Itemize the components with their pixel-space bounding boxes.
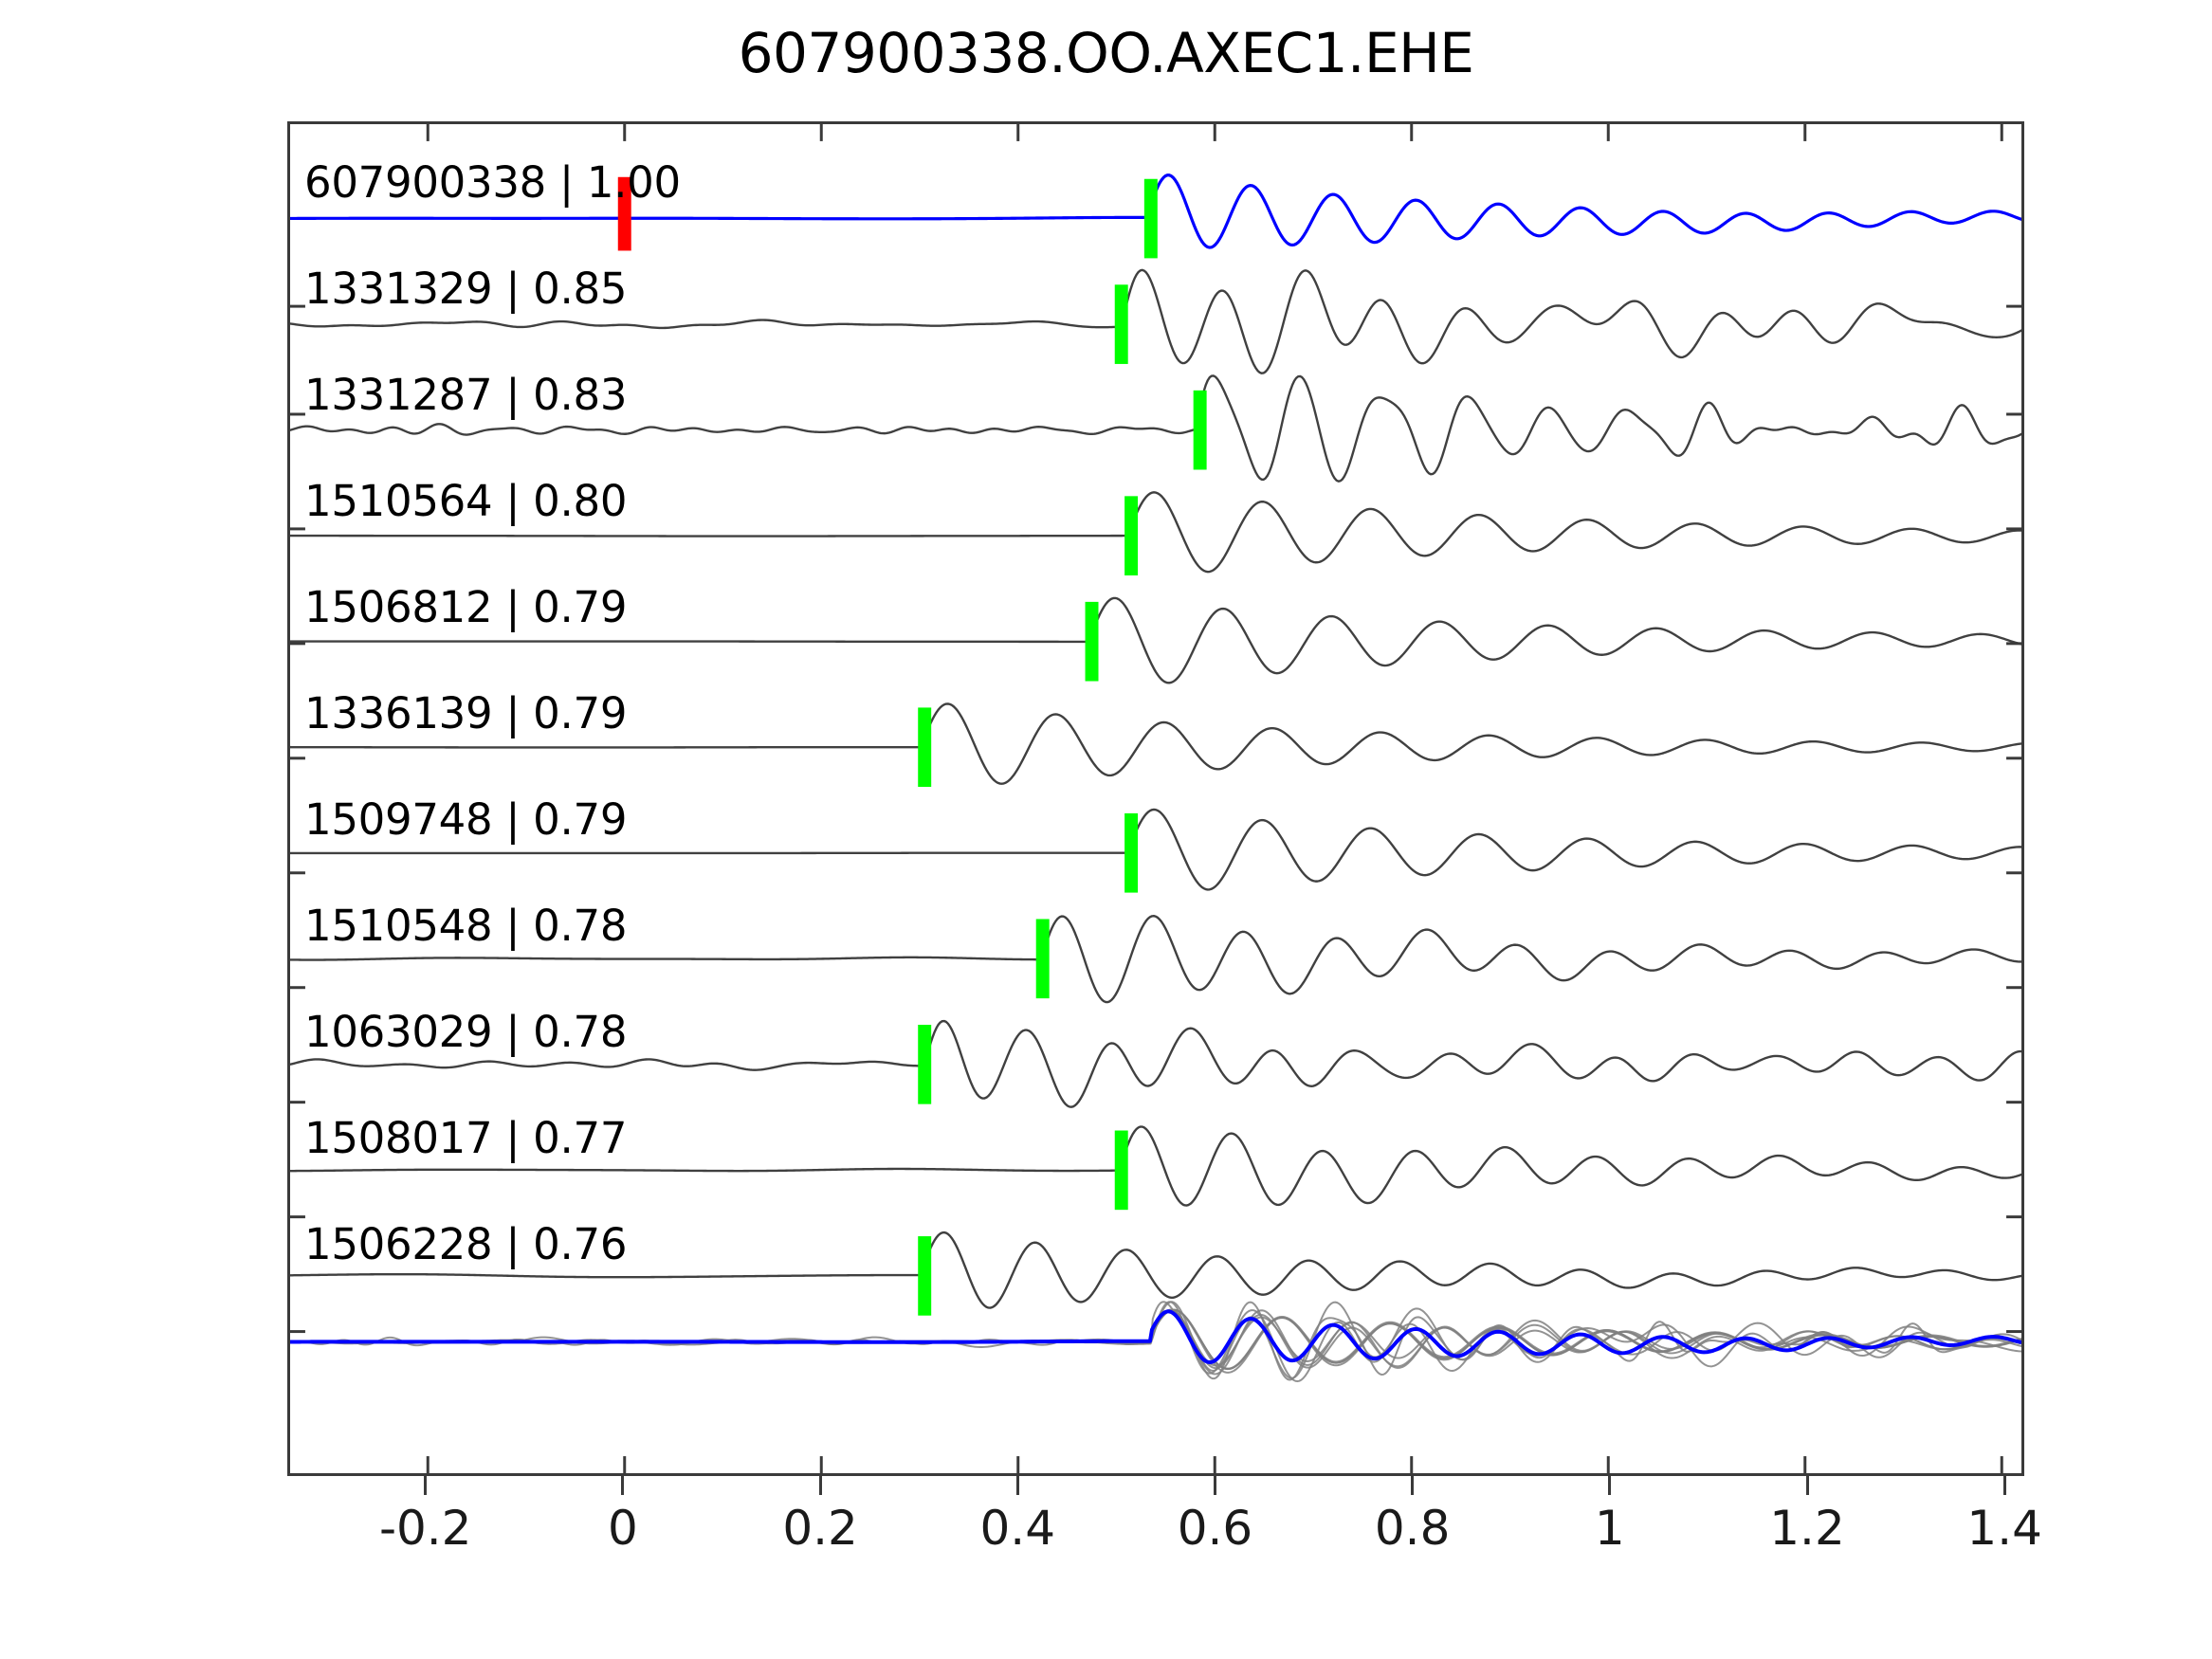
x-tick-label: 0.6 xyxy=(1178,1501,1253,1556)
x-tick-label: 0.4 xyxy=(980,1501,1056,1556)
x-tick-mark xyxy=(1806,1476,1809,1495)
waveform-trace-1506812 xyxy=(290,598,2021,683)
pick-marker-1336139 xyxy=(918,707,931,787)
pick-marker-1510548 xyxy=(1036,919,1050,998)
page-title: 607900338.OO.AXEC1.EHE xyxy=(0,21,2212,85)
waveform-trace-1510564 xyxy=(290,492,2021,572)
pick-marker-1331287 xyxy=(1194,391,1207,470)
x-tick-label: 0.2 xyxy=(782,1501,858,1556)
pick-marker-1331329 xyxy=(1115,284,1128,364)
waveform-trace-1506228 xyxy=(290,1232,2021,1307)
pick-marker-1506812 xyxy=(1086,602,1099,682)
x-tick-mark xyxy=(819,1476,822,1495)
x-tick-label: 0.8 xyxy=(1375,1501,1451,1556)
pick-marker-1063029 xyxy=(918,1025,931,1104)
x-tick-label: 1 xyxy=(1595,1501,1625,1556)
x-tick-label: 1.2 xyxy=(1769,1501,1845,1556)
x-tick-label: 0 xyxy=(608,1501,638,1556)
x-tick-mark xyxy=(2003,1476,2006,1495)
origin-marker-607900338 xyxy=(618,177,631,251)
x-tick-mark xyxy=(621,1476,624,1495)
pick-marker-1509748 xyxy=(1124,813,1138,893)
waveform-svg xyxy=(290,124,2021,1473)
x-tick-mark xyxy=(1608,1476,1611,1495)
plot-frame xyxy=(287,121,2024,1476)
waveform-trace-1510548 xyxy=(290,916,2021,1002)
pick-marker-1508017 xyxy=(1115,1131,1128,1211)
x-tick-label: 1.4 xyxy=(1966,1501,2042,1556)
pick-marker-1506228 xyxy=(918,1236,931,1316)
x-tick-mark xyxy=(1016,1476,1019,1495)
waveform-trace-1331329 xyxy=(290,270,2021,374)
pick-marker-607900338 xyxy=(1144,179,1158,259)
x-tick-mark xyxy=(1411,1476,1414,1495)
x-axis: -0.200.20.40.60.811.21.4 xyxy=(287,1476,2024,1618)
x-tick-label: -0.2 xyxy=(379,1501,472,1556)
pick-marker-1510564 xyxy=(1124,496,1138,575)
waveform-trace-1508017 xyxy=(290,1127,2021,1206)
waveform-trace-1063029 xyxy=(290,1021,2021,1107)
x-tick-mark xyxy=(1214,1476,1216,1495)
waveform-trace-1336139 xyxy=(290,703,2021,783)
plot-area xyxy=(290,124,2021,1473)
waveform-trace-1331287 xyxy=(290,375,2021,481)
figure-root: 607900338.OO.AXEC1.EHE 607900338 | 1.001… xyxy=(0,0,2212,1659)
x-tick-mark xyxy=(424,1476,427,1495)
waveform-trace-1509748 xyxy=(290,810,2021,889)
